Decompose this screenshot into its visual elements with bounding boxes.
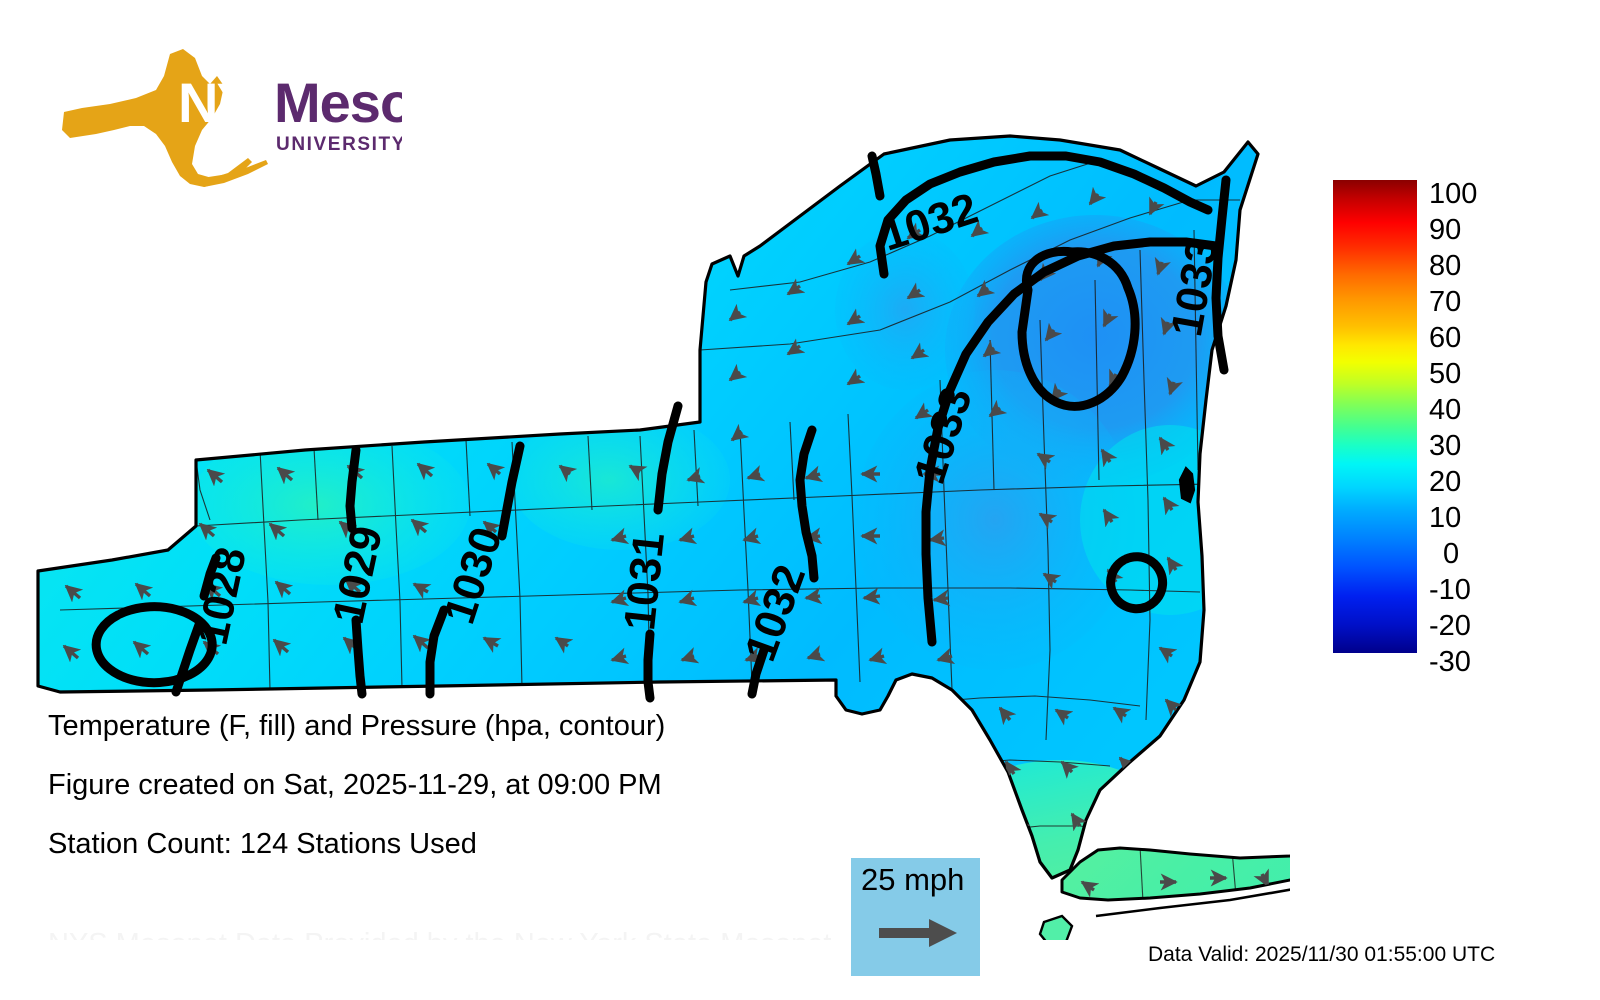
- colorbar-tick-80: 80: [1429, 252, 1461, 281]
- colorbar-tick-10: 10: [1429, 504, 1461, 533]
- caption-attribution-text: NYS Mesonet Data Provided by the New Yor…: [48, 930, 868, 940]
- colorbar-tick-labels: 100 90 80 70 60 50 40 30 20 10 0 -10 -20…: [1429, 160, 1579, 660]
- colorbar-tick-30: 30: [1429, 432, 1461, 461]
- colorbar-tick-70: 70: [1429, 288, 1461, 317]
- colorbar-tick-0: 0: [1443, 540, 1459, 569]
- temperature-colorbar: 100 90 80 70 60 50 40 30 20 10 0 -10 -20…: [1333, 180, 1583, 658]
- caption-station-count: Station Count: 124 Stations Used: [48, 830, 828, 859]
- caption-title: Temperature (F, fill) and Pressure (hpa,…: [48, 712, 828, 741]
- contour-label-1031: 1031: [615, 530, 674, 632]
- colorbar-tick-50: 50: [1429, 360, 1461, 389]
- colorbar-tick-40: 40: [1429, 396, 1461, 425]
- colorbar-tick-minus10: -10: [1429, 576, 1471, 605]
- caption-block: Temperature (F, fill) and Pressure (hpa,…: [48, 712, 828, 889]
- data-valid-timestamp: Data Valid: 2025/11/30 01:55:00 UTC: [1148, 944, 1495, 965]
- right-arrow-icon: [879, 916, 959, 950]
- colorbar-tick-20: 20: [1429, 468, 1461, 497]
- contour-1029-north: [350, 450, 356, 528]
- colorbar-tick-minus30: -30: [1429, 648, 1471, 677]
- wind-speed-legend: 25 mph: [851, 858, 980, 976]
- colorbar-tick-minus20: -20: [1429, 612, 1471, 641]
- staten-island-shape: [1040, 916, 1072, 940]
- wind-legend-label: 25 mph: [861, 862, 964, 898]
- caption-attribution-cutoff: NYS Mesonet Data Provided by the New Yor…: [48, 930, 868, 940]
- contour-1031-south: [648, 634, 650, 698]
- weather-map-figure: NYS Mesonet UNIVERSITY AT ALBANY: [0, 0, 1600, 1000]
- colorbar-tick-90: 90: [1429, 216, 1461, 245]
- colorbar-tick-100: 100: [1429, 180, 1477, 209]
- colorbar-tick-60: 60: [1429, 324, 1461, 353]
- contour-1029-south: [356, 620, 362, 694]
- caption-created: Figure created on Sat, 2025-11-29, at 09…: [48, 771, 828, 800]
- colorbar-gradient: [1333, 180, 1417, 653]
